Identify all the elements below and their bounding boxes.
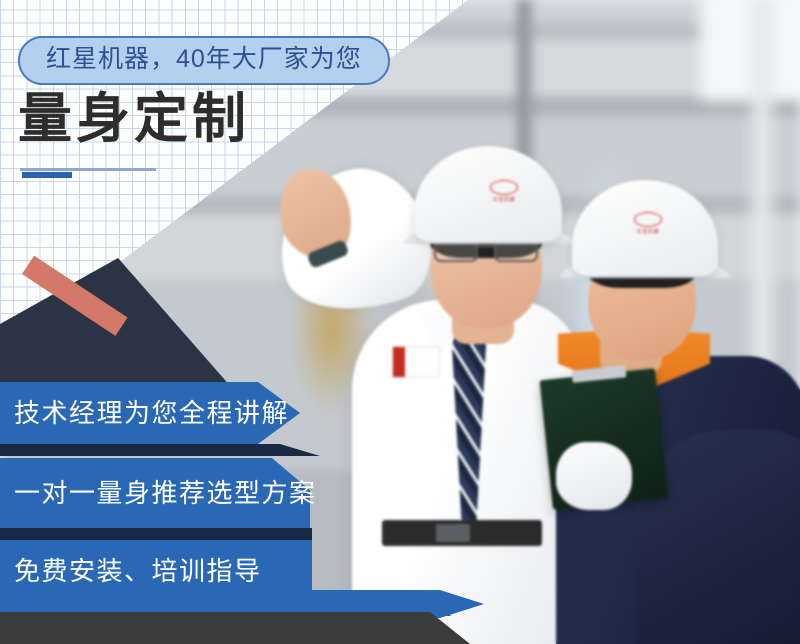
- feature-ribbon-2: 一对一量身推荐选型方案: [0, 458, 310, 528]
- title-underline-light: [20, 168, 156, 171]
- tagline-pill: 红星机器，40年大厂家为您: [18, 36, 390, 85]
- title-underline-dark: [22, 172, 72, 178]
- helmet-logo-text-left: 红星机器: [474, 196, 534, 203]
- feature-ribbon-shadow-1: [0, 444, 320, 456]
- glasses-bridge: [476, 245, 496, 247]
- feature-ribbon-3-label: 免费安装、培训指导: [14, 558, 262, 584]
- feature-ribbon-shadow-2: [0, 528, 312, 540]
- helmet-logo-mark-left: [490, 180, 518, 195]
- feature-ribbon-1: 技术经理为您全程讲解: [0, 382, 300, 444]
- engineer-left-id-badge-stripe: [393, 347, 405, 377]
- helmet-logo-right: 红星机器: [618, 212, 678, 235]
- feature-ribbon-1-label: 技术经理为您全程讲解: [14, 400, 289, 426]
- engineer-left-belt-buckle: [436, 524, 470, 542]
- feature-ribbon-2-label: 一对一量身推荐选型方案: [14, 480, 317, 506]
- helmet-logo-left: 红星机器: [474, 180, 534, 203]
- bottom-band-dark: [0, 612, 470, 644]
- page-title: 量身定制: [18, 92, 250, 146]
- helmet-logo-mark-right: [634, 212, 662, 227]
- promo-banner: 红星机器 红星机器 红星机器，40年大厂家为您 量身定制 技术经理为您全程讲解: [0, 0, 800, 644]
- engineer-left-id-badge: [392, 346, 440, 378]
- helmet-logo-text-right: 红星机器: [618, 228, 678, 235]
- engineer-right-glove: [556, 442, 632, 510]
